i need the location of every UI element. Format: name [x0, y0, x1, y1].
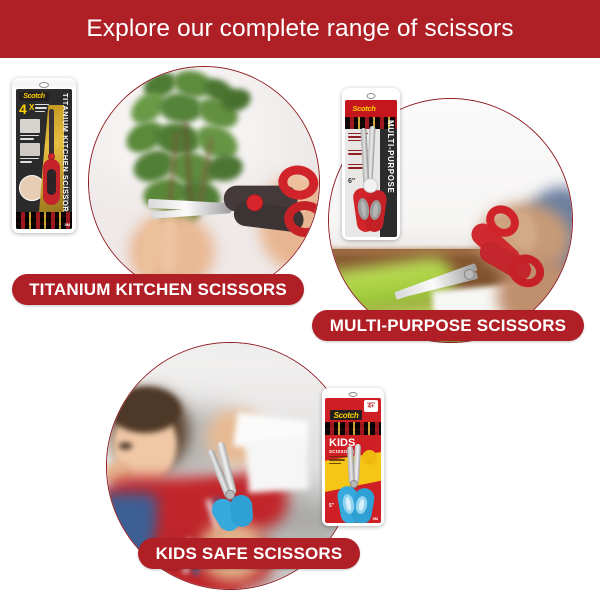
package-product-name: MULTI-PURPOSE — [386, 120, 395, 206]
package-size: 5" — [329, 503, 334, 509]
label-text: TITANIUM KITCHEN SCISSORS — [29, 280, 287, 300]
package-multi-purpose: Scotch 6" — [342, 88, 400, 240]
package-titanium-kitchen: Scotch 4 X — [12, 78, 76, 233]
package-product-name: TITANIUM KITCHEN SCISSORS — [61, 93, 70, 185]
label-text: KIDS SAFE SCISSORS — [156, 544, 343, 564]
brand-logo-multipurpose: Scotch — [349, 103, 379, 113]
age-value: 4+ — [368, 404, 375, 410]
header-bar: Explore our complete range of scissors — [0, 0, 600, 58]
claim-suffix: X — [29, 103, 34, 112]
panel-kids-safe[interactable]: AGES 4+ Scotch KIDS SCISSORS — [100, 330, 420, 600]
panel-titanium-kitchen[interactable]: Scotch 4 X — [0, 58, 320, 308]
brand-logo-kids: Scotch — [330, 410, 362, 420]
label-titanium-kitchen[interactable]: TITANIUM KITCHEN SCISSORS — [12, 274, 304, 305]
promo-banner: Explore our complete range of scissors — [0, 0, 600, 600]
brand-logo-titanium: Scotch — [19, 92, 49, 101]
claim-number: 4 — [19, 103, 27, 116]
page-title: Explore our complete range of scissors — [86, 15, 513, 43]
multipurpose-scissors-graphic — [420, 203, 561, 326]
package-kids-safe: AGES 4+ Scotch KIDS SCISSORS — [322, 388, 384, 526]
maker-mark: 3M — [64, 222, 70, 227]
panel-multi-purpose[interactable]: Scotch 6" — [300, 70, 600, 350]
maker-mark: 3M — [372, 516, 378, 521]
maker-mark: 3M — [389, 230, 395, 235]
photo-titanium-kitchen — [88, 66, 320, 298]
label-kids-safe[interactable]: KIDS SAFE SCISSORS — [138, 538, 360, 569]
